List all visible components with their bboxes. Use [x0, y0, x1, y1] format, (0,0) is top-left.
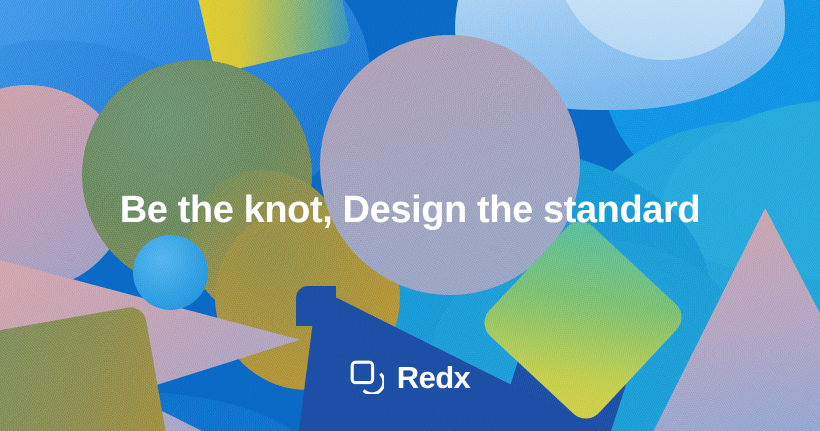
brand-logo: Redx	[0, 360, 820, 394]
brand-name: Redx	[397, 362, 470, 393]
promo-banner: Be the knot, Design the standard Redx	[0, 0, 820, 431]
banner-content: Be the knot, Design the standard Redx	[0, 0, 820, 431]
redx-rounded-square-arc-icon	[350, 360, 384, 394]
headline-text: Be the knot, Design the standard	[0, 191, 820, 229]
